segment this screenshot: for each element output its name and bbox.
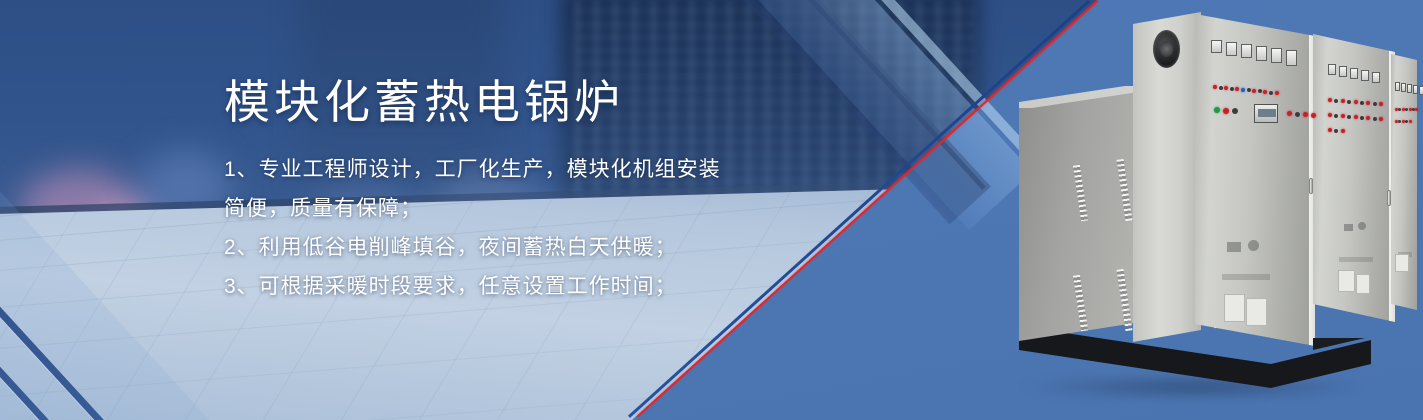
gauge-meter	[1413, 85, 1418, 94]
gauge-meter	[1401, 83, 1406, 92]
louver-vent	[1073, 165, 1088, 221]
louver-vent	[1117, 269, 1133, 331]
indicator-lamp	[1241, 88, 1245, 92]
gauge-meter	[1271, 48, 1282, 63]
indicator-lamp	[1354, 115, 1358, 119]
gauge-meter	[1256, 46, 1267, 61]
gauge-meter	[1372, 72, 1380, 83]
indicator-lamp	[1230, 87, 1234, 91]
indicator-lamp	[1328, 113, 1332, 117]
product-banner: 模块化蓄热电锅炉 1、专业工程师设计，工厂化生产，模块化机组安装 简便，质量有保…	[0, 0, 1423, 420]
list-item: 简便，质量有保障；	[224, 189, 864, 228]
gauge-meter	[1350, 68, 1358, 79]
indicator-lamp	[1275, 91, 1279, 95]
indicator-lamp	[1373, 102, 1377, 106]
indicator-lamp	[1341, 99, 1345, 103]
copy-block: 模块化蓄热电锅炉 1、专业工程师设计，工厂化生产，模块化机组安装 简便，质量有保…	[224, 78, 864, 306]
indicator-lamp	[1373, 117, 1377, 121]
indicator-lamp	[1347, 115, 1351, 119]
indicator-lamp	[1269, 91, 1273, 95]
fan-grille-icon	[1153, 30, 1180, 68]
gauge-meter	[1361, 70, 1369, 81]
nameplate	[1356, 274, 1370, 294]
louver-vent	[1117, 159, 1133, 221]
gauge-meter	[1286, 50, 1297, 66]
cabinet-front-panel-2	[1313, 32, 1395, 352]
indicator-lamp	[1354, 100, 1358, 104]
indicator-lamp	[1347, 100, 1351, 104]
feature-list: 1、专业工程师设计，工厂化生产，模块化机组安装 简便，质量有保障； 2、利用低谷…	[224, 150, 864, 306]
indicator-lamp	[1328, 98, 1332, 102]
indicator-lamp	[1341, 114, 1345, 118]
model-label	[1344, 224, 1353, 231]
certification-logo	[1358, 222, 1366, 230]
nameplate	[1246, 298, 1267, 326]
gauge-meter	[1339, 66, 1347, 77]
door-handle	[1309, 178, 1313, 194]
indicator-lamp	[1311, 113, 1316, 118]
indicator-lamp	[1287, 111, 1292, 116]
list-item: 3、可根据采暖时段要求，任意设置工作时间；	[224, 267, 864, 306]
list-item: 1、专业工程师设计，工厂化生产，模块化机组安装	[224, 150, 864, 189]
model-label	[1339, 257, 1373, 262]
nameplate	[1338, 270, 1355, 292]
indicator-lamp	[1334, 129, 1338, 133]
gauge-meter	[1328, 64, 1336, 75]
indicator-lamp	[1223, 108, 1229, 114]
indicator-lamp	[1247, 88, 1251, 92]
door-handle	[1387, 190, 1391, 206]
indicator-lamp	[1360, 101, 1364, 105]
gauge-meter	[1241, 44, 1252, 58]
product-image	[995, 2, 1415, 414]
indicator-lamp	[1409, 120, 1412, 123]
indicator-lamp	[1341, 129, 1345, 133]
indicator-lamp	[1219, 86, 1223, 90]
indicator-lamp	[1213, 85, 1217, 89]
indicator-lamp	[1214, 107, 1220, 113]
nameplate	[1395, 254, 1409, 272]
indicator-lamp	[1295, 112, 1300, 117]
gauge-meter	[1226, 42, 1237, 56]
indicator-lamp	[1328, 128, 1332, 132]
list-item: 2、利用低谷电削峰填谷，夜间蓄热白天供暖；	[224, 228, 864, 267]
indicator-lamp	[1360, 116, 1364, 120]
nameplate	[1224, 294, 1245, 322]
digital-display	[1254, 104, 1278, 123]
gauge-meter	[1419, 86, 1423, 95]
gauge-meter	[1407, 84, 1412, 93]
brand-logo	[1227, 242, 1241, 252]
model-label	[1222, 274, 1270, 280]
product-shadow	[1015, 374, 1375, 400]
page-title: 模块化蓄热电锅炉	[224, 78, 864, 128]
gauge-meter	[1395, 82, 1400, 91]
gauge-meter	[1211, 40, 1222, 53]
certification-logo	[1248, 240, 1259, 251]
louver-vent	[1073, 275, 1088, 331]
